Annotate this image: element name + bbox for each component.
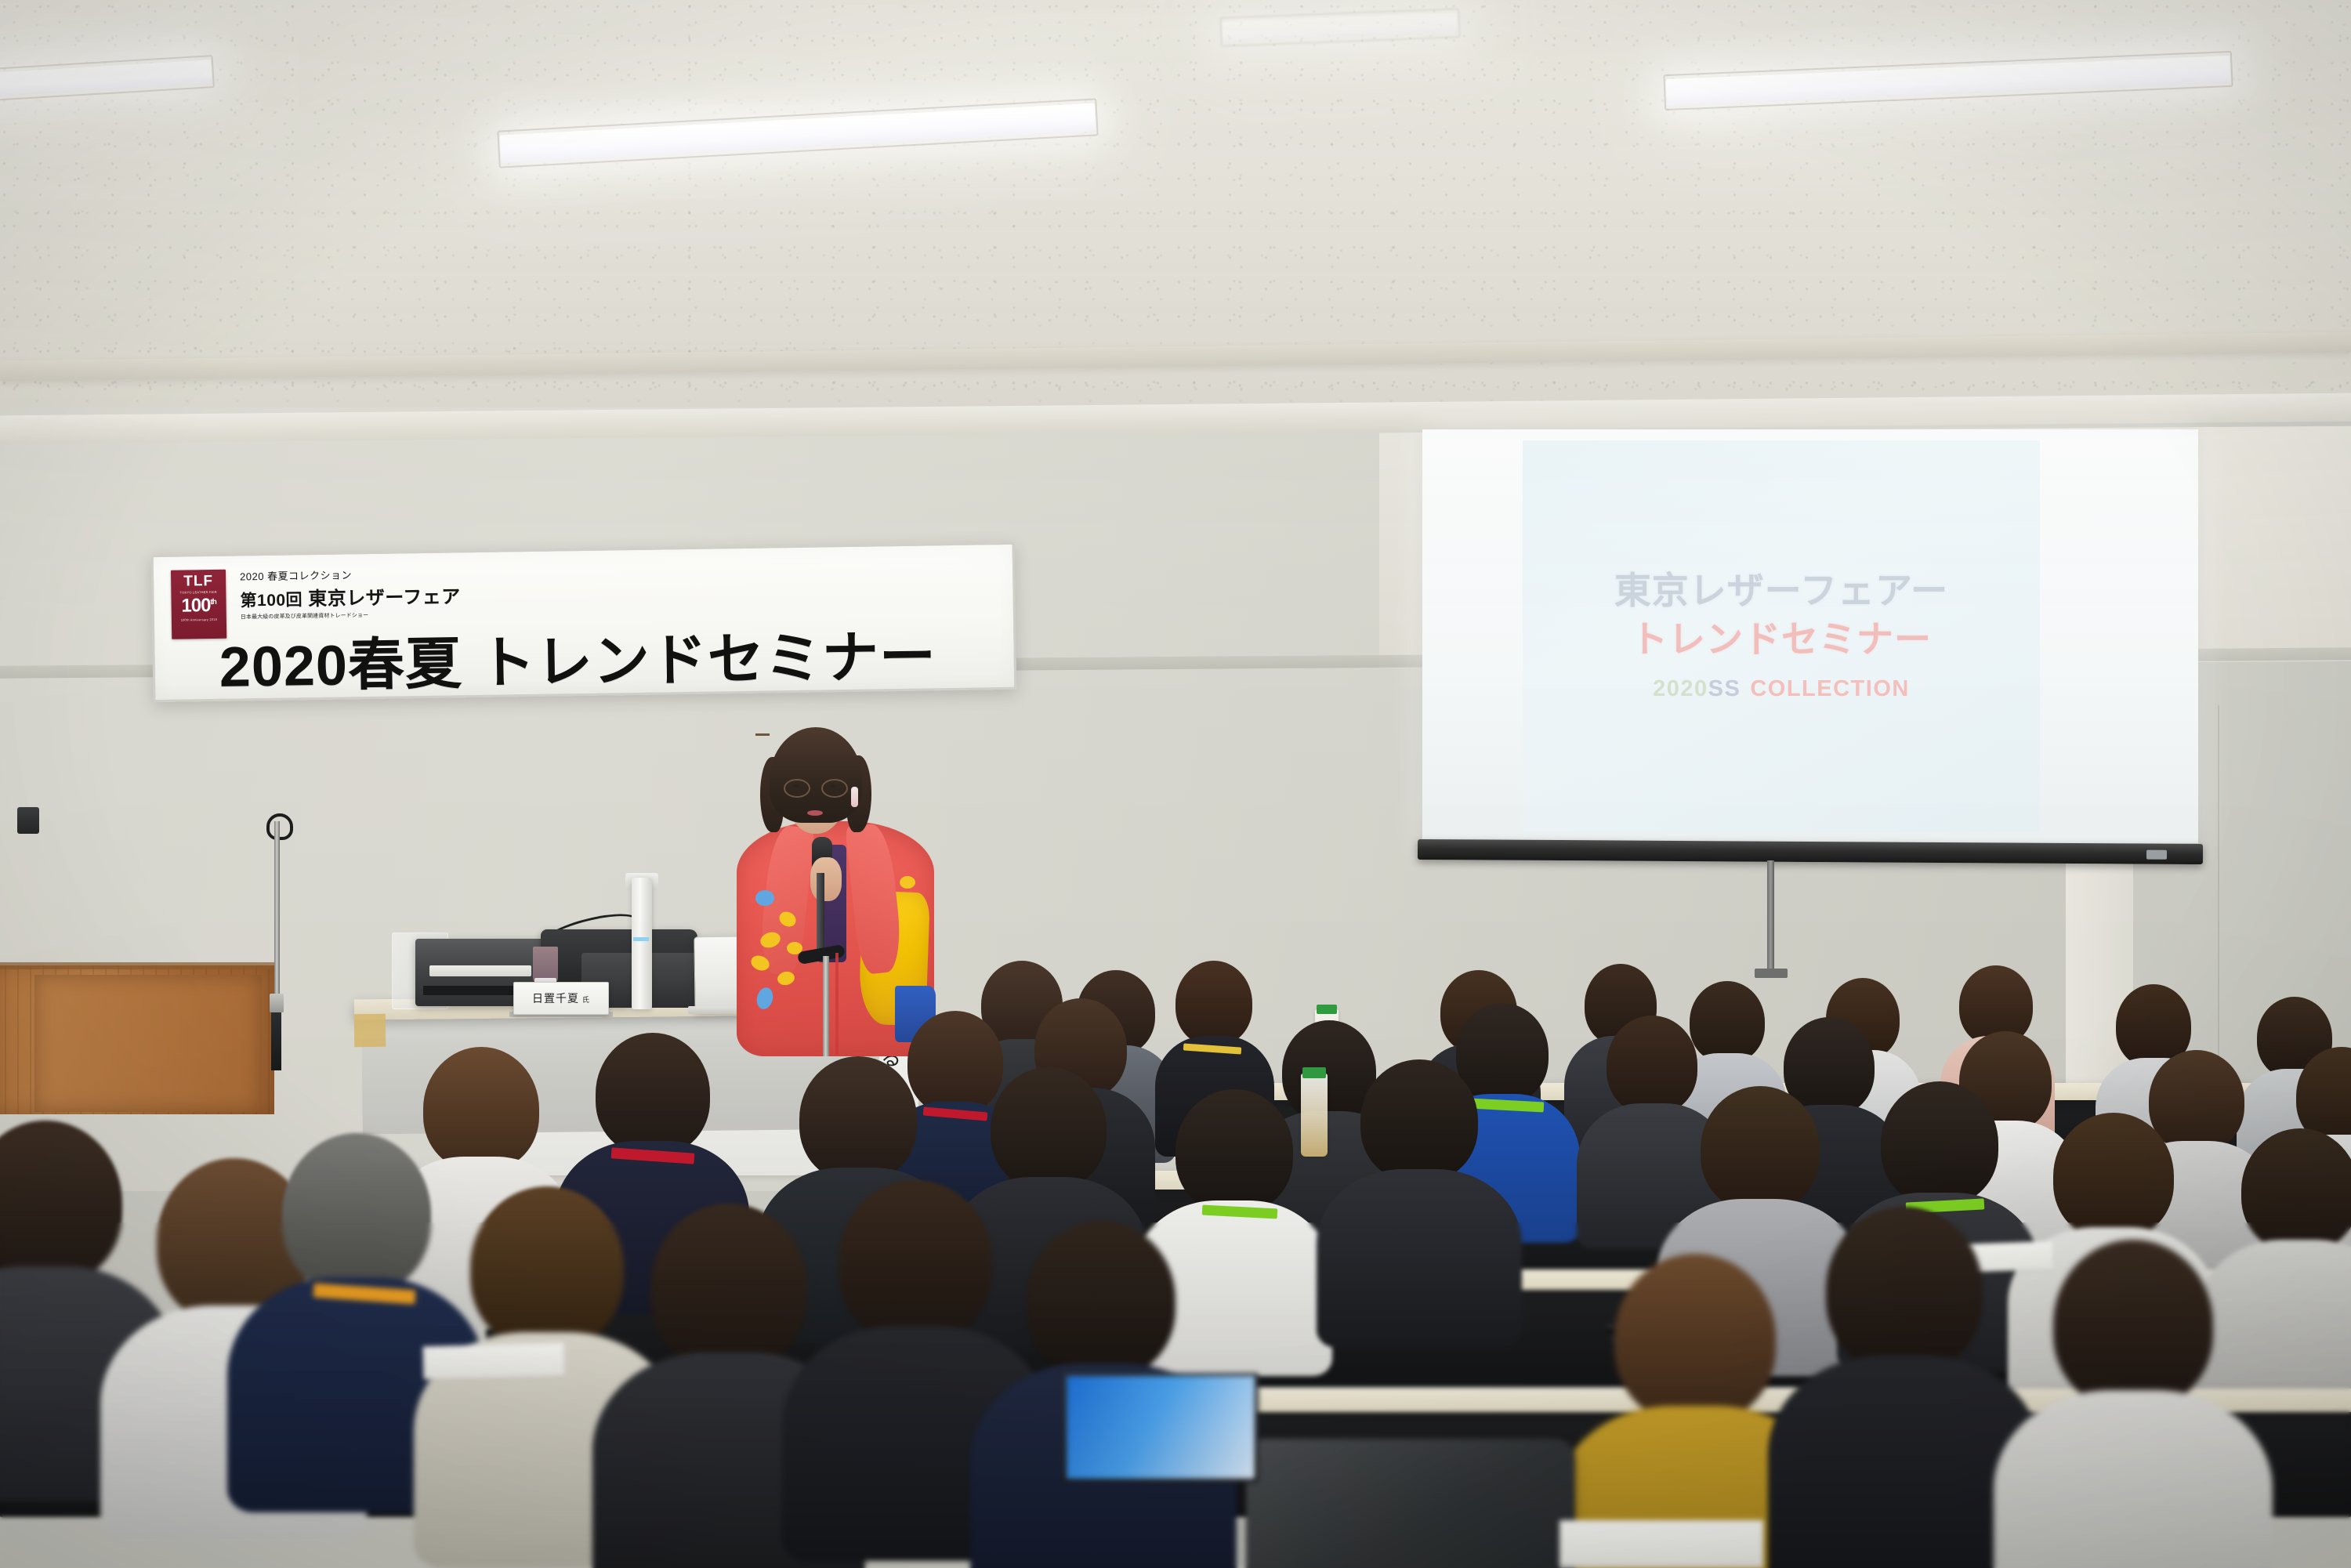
head bbox=[907, 1011, 1003, 1114]
microphone-clip bbox=[266, 813, 293, 840]
presenter-earring bbox=[851, 787, 858, 807]
head bbox=[839, 1180, 992, 1343]
presenter bbox=[729, 727, 940, 1056]
screen-bottom-bar bbox=[1418, 839, 2203, 864]
water-bottle-b1 bbox=[1301, 1074, 1328, 1157]
document-camera bbox=[632, 878, 652, 1009]
tlf-anniversary-suffix: th bbox=[210, 598, 216, 607]
stage-table-brace bbox=[354, 1014, 386, 1047]
head bbox=[282, 1133, 431, 1295]
slide-collection: COLLECTION bbox=[1750, 676, 1910, 701]
slide-line-1: 東京レザーフェアー bbox=[1614, 570, 1948, 611]
name-placard-name: 日置千夏 bbox=[532, 992, 579, 1005]
microphone-stand-joint bbox=[270, 994, 284, 1012]
tlf-anniversary-number: 100 bbox=[181, 595, 210, 617]
banner-header-block: 2020 春夏コレクション 第100回 東京レザーフェア 日本最大級の皮革及び皮… bbox=[240, 565, 461, 621]
head bbox=[799, 1056, 917, 1182]
wood-panel-rail bbox=[0, 962, 279, 969]
head bbox=[1690, 981, 1765, 1063]
head bbox=[2149, 1050, 2244, 1152]
name-placard-honorific: 氏 bbox=[582, 996, 590, 1004]
ceiling-light-4 bbox=[1223, 13, 1458, 42]
presenter-glasses bbox=[782, 779, 849, 795]
tlf-logo-subtitle: TOKYO LEATHER FAIR bbox=[180, 590, 217, 594]
screen-pole-base bbox=[1755, 969, 1788, 978]
head bbox=[650, 1204, 807, 1371]
banner-fair-name: 東京レザーフェア bbox=[308, 586, 461, 610]
bottle-cap-b1 bbox=[1302, 1067, 1326, 1078]
head bbox=[1614, 1254, 1776, 1423]
backpack bbox=[1246, 1439, 1575, 1568]
head bbox=[991, 1067, 1107, 1190]
head bbox=[2053, 1113, 2174, 1240]
tlf-logo-mark: TLF bbox=[183, 574, 213, 589]
event-banner: TLF TOKYO LEATHER FAIR 100th 100th Anniv… bbox=[151, 542, 1017, 702]
boom-microphone-cord bbox=[835, 953, 839, 1055]
head bbox=[1826, 1207, 1983, 1373]
slide-line-2: トレンドセミナー bbox=[1631, 619, 1932, 660]
banner-headline-main: 第100回 東京レザーフェア bbox=[240, 581, 461, 611]
tlf-anniversary: 100th bbox=[181, 597, 216, 615]
torso bbox=[1317, 1169, 1522, 1348]
wood-wall-panel-inner bbox=[34, 975, 262, 1112]
screen-support-pole bbox=[1767, 860, 1774, 972]
head bbox=[596, 1033, 710, 1155]
tlf-anniversary-note: 100th Anniversary 2019 bbox=[181, 617, 218, 622]
head bbox=[1607, 1016, 1697, 1114]
wall-outlet-plate bbox=[17, 807, 39, 834]
head bbox=[1881, 1081, 1998, 1205]
slide-year: 2020 bbox=[1653, 676, 1708, 701]
screen-bar-cap bbox=[2146, 850, 2167, 860]
head bbox=[1701, 1086, 1820, 1211]
banner-title: 2020春夏 トレンドセミナー bbox=[219, 628, 997, 696]
head bbox=[423, 1047, 539, 1171]
head bbox=[1027, 1221, 1175, 1379]
tlf-logo: TLF TOKYO LEATHER FAIR 100th 100th Anniv… bbox=[171, 570, 226, 639]
audience-laptop bbox=[1063, 1373, 1259, 1483]
head bbox=[470, 1186, 624, 1349]
laptop-screen bbox=[1067, 1376, 1255, 1479]
presenter-hand bbox=[810, 857, 842, 901]
presenter-hair bbox=[770, 727, 862, 823]
head bbox=[1175, 1089, 1293, 1213]
garment-dot-blue-1 bbox=[755, 890, 774, 906]
name-placard: 日置千夏氏 bbox=[513, 982, 609, 1015]
handout-d2 bbox=[422, 1343, 564, 1380]
projection-screen: 東京レザーフェアー トレンドセミナー 2020SSCOLLECTION bbox=[1422, 429, 2198, 868]
presenter-mouth bbox=[807, 810, 823, 816]
handout-d1 bbox=[1559, 1520, 1763, 1567]
torso bbox=[1994, 1390, 2273, 1568]
seminar-room-photo: TLF TOKYO LEATHER FAIR 100th 100th Anniv… bbox=[0, 0, 2351, 1568]
garment-dot-yellow-6 bbox=[900, 876, 915, 889]
banner-note: 日本最大級の皮革及び皮革関連資材トレードショー bbox=[241, 610, 461, 621]
document-camera-led bbox=[633, 937, 649, 941]
printer-lid bbox=[429, 965, 531, 976]
head bbox=[1456, 1003, 1549, 1103]
banner-edition: 第100回 bbox=[240, 591, 302, 610]
head bbox=[1360, 1059, 1478, 1182]
glasses-bridge bbox=[755, 733, 770, 736]
head bbox=[1175, 961, 1252, 1045]
slide-content: 東京レザーフェアー トレンドセミナー 2020SSCOLLECTION bbox=[1523, 429, 2040, 843]
slide-line-3: 2020SSCOLLECTION bbox=[1653, 676, 1910, 702]
boom-microphone-pole bbox=[823, 956, 829, 1056]
slide-season: SS bbox=[1708, 676, 1741, 701]
microphone-stand-lower bbox=[271, 1012, 281, 1070]
microphone-stem bbox=[817, 873, 824, 959]
head bbox=[2241, 1128, 2351, 1252]
head bbox=[2053, 1240, 2213, 1409]
bottle-cap-a1 bbox=[1317, 1005, 1337, 1014]
